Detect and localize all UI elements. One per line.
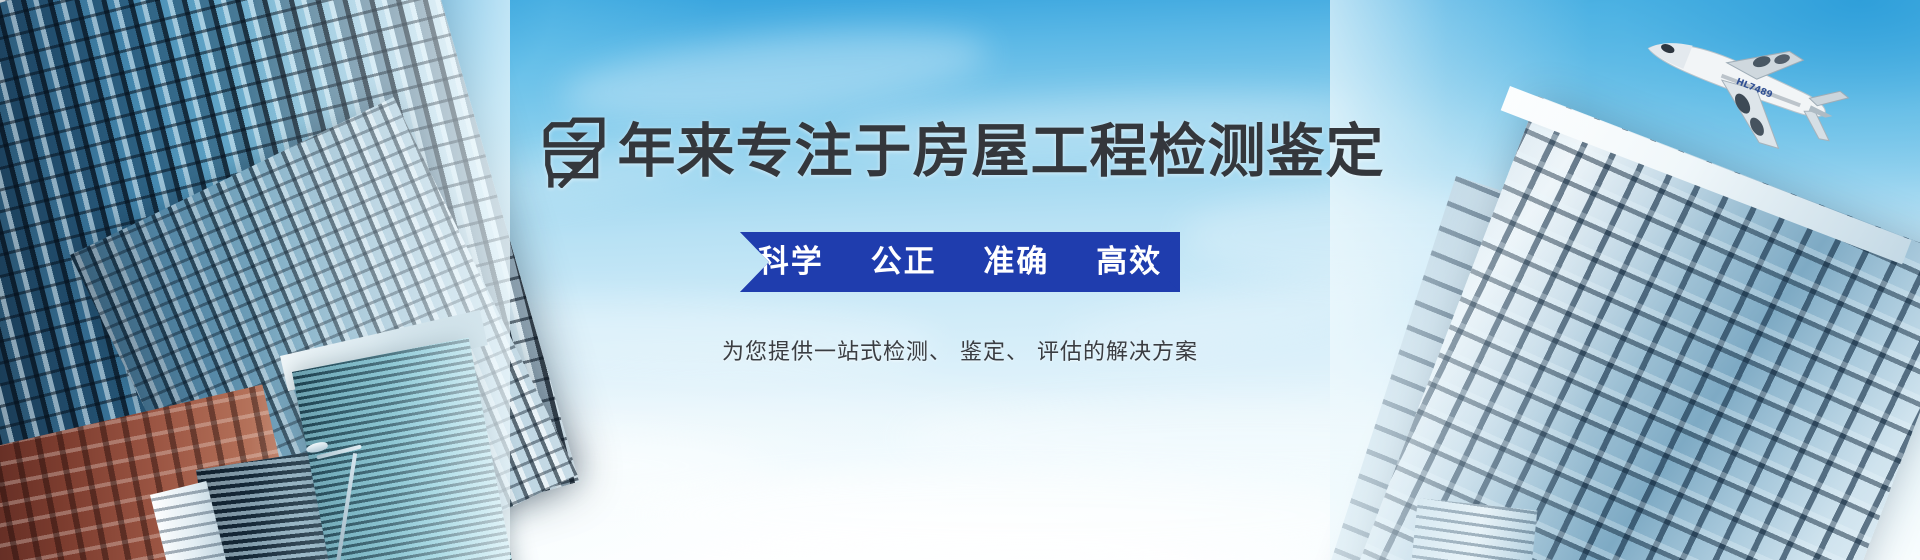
headline-text: 年来专注于房屋工程检测鉴定 [617, 122, 1384, 180]
ribbon-item-0: 科学 [758, 247, 824, 278]
values-ribbon: 科学 公正 准确 高效 [740, 232, 1180, 292]
ribbon-item-1: 公正 [871, 247, 937, 278]
hero-banner: HL7489 [0, 0, 1920, 560]
ribbon-inner: 科学 公正 准确 高效 [740, 232, 1180, 292]
ribbon-shape: 科学 公正 准确 高效 [740, 232, 1180, 292]
headline: 年来专注于房屋工程检测鉴定 [535, 112, 1384, 190]
subtitle: 为您提供一站式检测、 鉴定、 评估的解决方案 [722, 342, 1198, 364]
banner-content: 年来专注于房屋工程检测鉴定 科学 公正 准确 高效 为您提供一站式检测、 鉴定、… [0, 0, 1920, 560]
ribbon-item-3: 高效 [1096, 247, 1162, 278]
ribbon-text-group: 科学 公正 准确 高效 [758, 247, 1162, 278]
ribbon-item-2: 准确 [983, 247, 1049, 278]
duo-logo-glyph [535, 114, 613, 188]
